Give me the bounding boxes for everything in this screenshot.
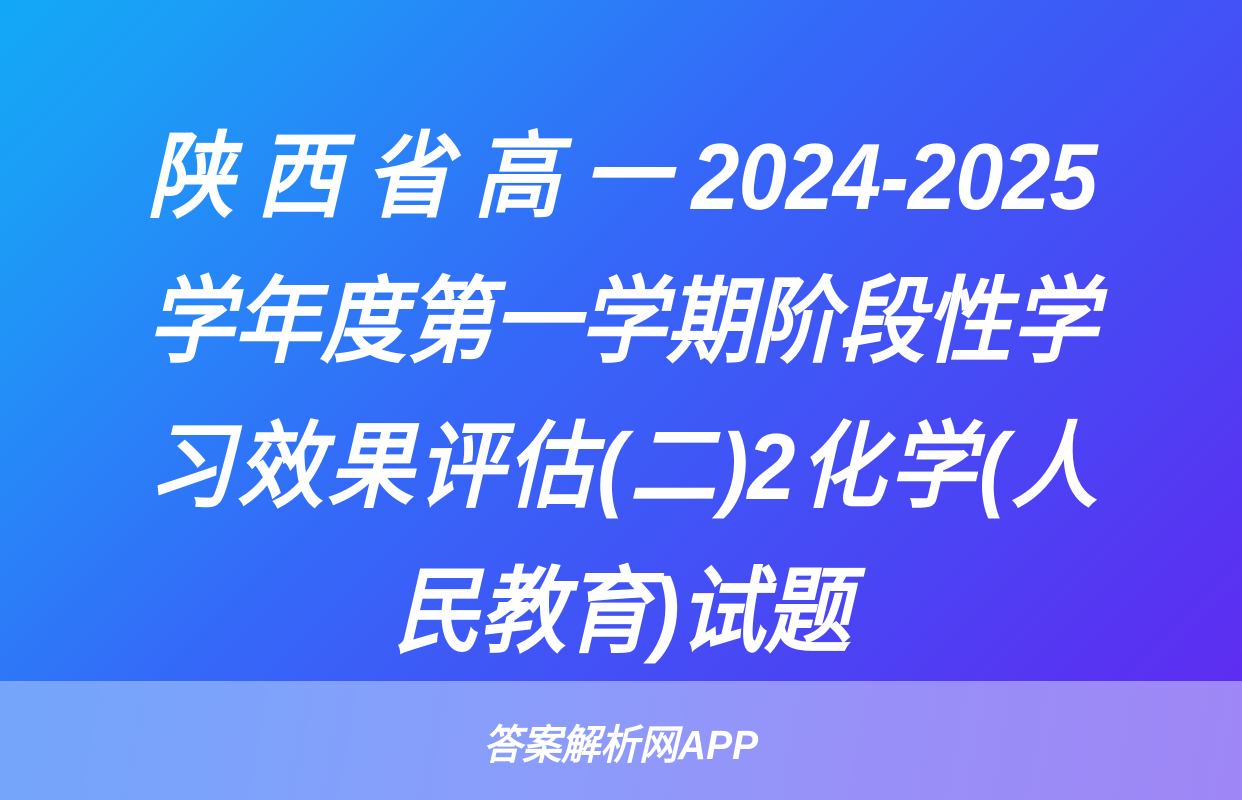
footer-band: 答案解析网APP: [0, 681, 1242, 800]
page-title: 陕西省高一2024-2025 学年度第一学期阶段性学 习效果评估(二)2化学(人…: [0, 104, 1242, 684]
poster-canvas: 陕西省高一2024-2025 学年度第一学期阶段性学 习效果评估(二)2化学(人…: [0, 0, 1242, 800]
title-line-4: 民教育)试题: [147, 539, 1096, 684]
title-line-3: 习效果评估(二)2化学(人: [147, 394, 1096, 539]
title-line-2: 学年度第一学期阶段性学: [147, 249, 1096, 394]
watermark-app-label: 答案解析网APP: [484, 711, 759, 771]
title-line-1: 陕西省高一2024-2025: [147, 104, 1096, 249]
